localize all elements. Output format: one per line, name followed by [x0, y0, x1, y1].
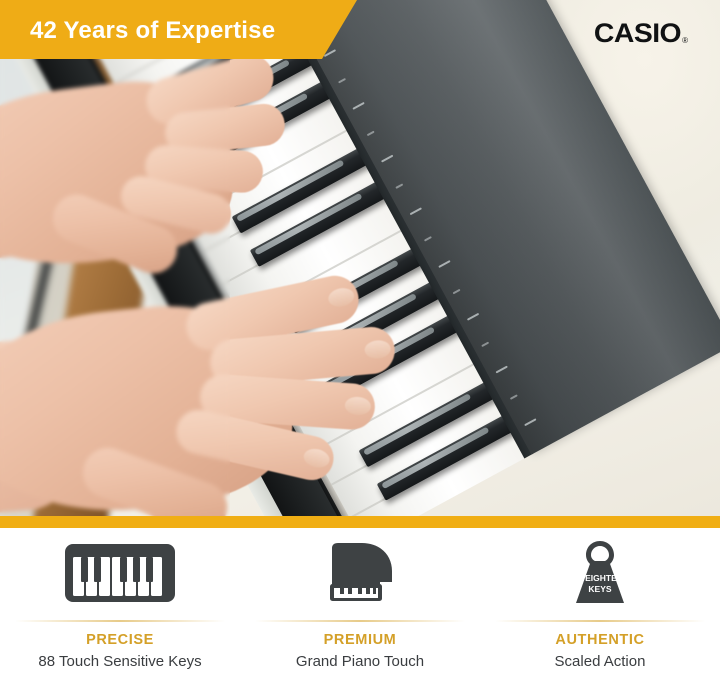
keyboard-icon	[64, 542, 176, 604]
photo-depth-blur	[0, 0, 230, 516]
registered-trademark-icon: ®	[682, 36, 688, 45]
feature-strip: PRECISE 88 Touch Sensitive Keys	[0, 528, 720, 675]
feature-precise: PRECISE 88 Touch Sensitive Keys	[0, 528, 240, 675]
feature-premium: PREMIUM Grand Piano Touch	[240, 528, 480, 675]
grand-piano-icon	[322, 542, 398, 604]
yellow-divider-bar	[0, 516, 720, 528]
feature-divider	[495, 620, 705, 622]
feature-title: AUTHENTIC	[555, 632, 644, 648]
feature-description: Grand Piano Touch	[296, 653, 424, 670]
weight-icon-label-line2: KEYS	[588, 584, 611, 594]
weight-icon: WEIGHTED KEYS	[564, 542, 636, 604]
product-feature-banner: 42 Years of Expertise CASIO ®	[0, 0, 720, 675]
feature-description: Scaled Action	[555, 653, 646, 670]
brand-name: CASIO	[594, 18, 681, 49]
feature-authentic: WEIGHTED KEYS AUTHENTIC Scaled Action	[480, 528, 720, 675]
weight-icon-label-line1: WEIGHTED	[577, 573, 623, 583]
casio-logo: CASIO ®	[596, 18, 688, 49]
feature-title: PREMIUM	[324, 632, 397, 648]
feature-description: 88 Touch Sensitive Keys	[38, 653, 201, 670]
expertise-banner: 42 Years of Expertise	[0, 0, 360, 59]
banner-title: 42 Years of Expertise	[30, 17, 275, 45]
feature-title: PRECISE	[86, 632, 154, 648]
hero-photo	[0, 0, 720, 516]
feature-divider	[15, 620, 225, 622]
feature-divider	[255, 620, 465, 622]
